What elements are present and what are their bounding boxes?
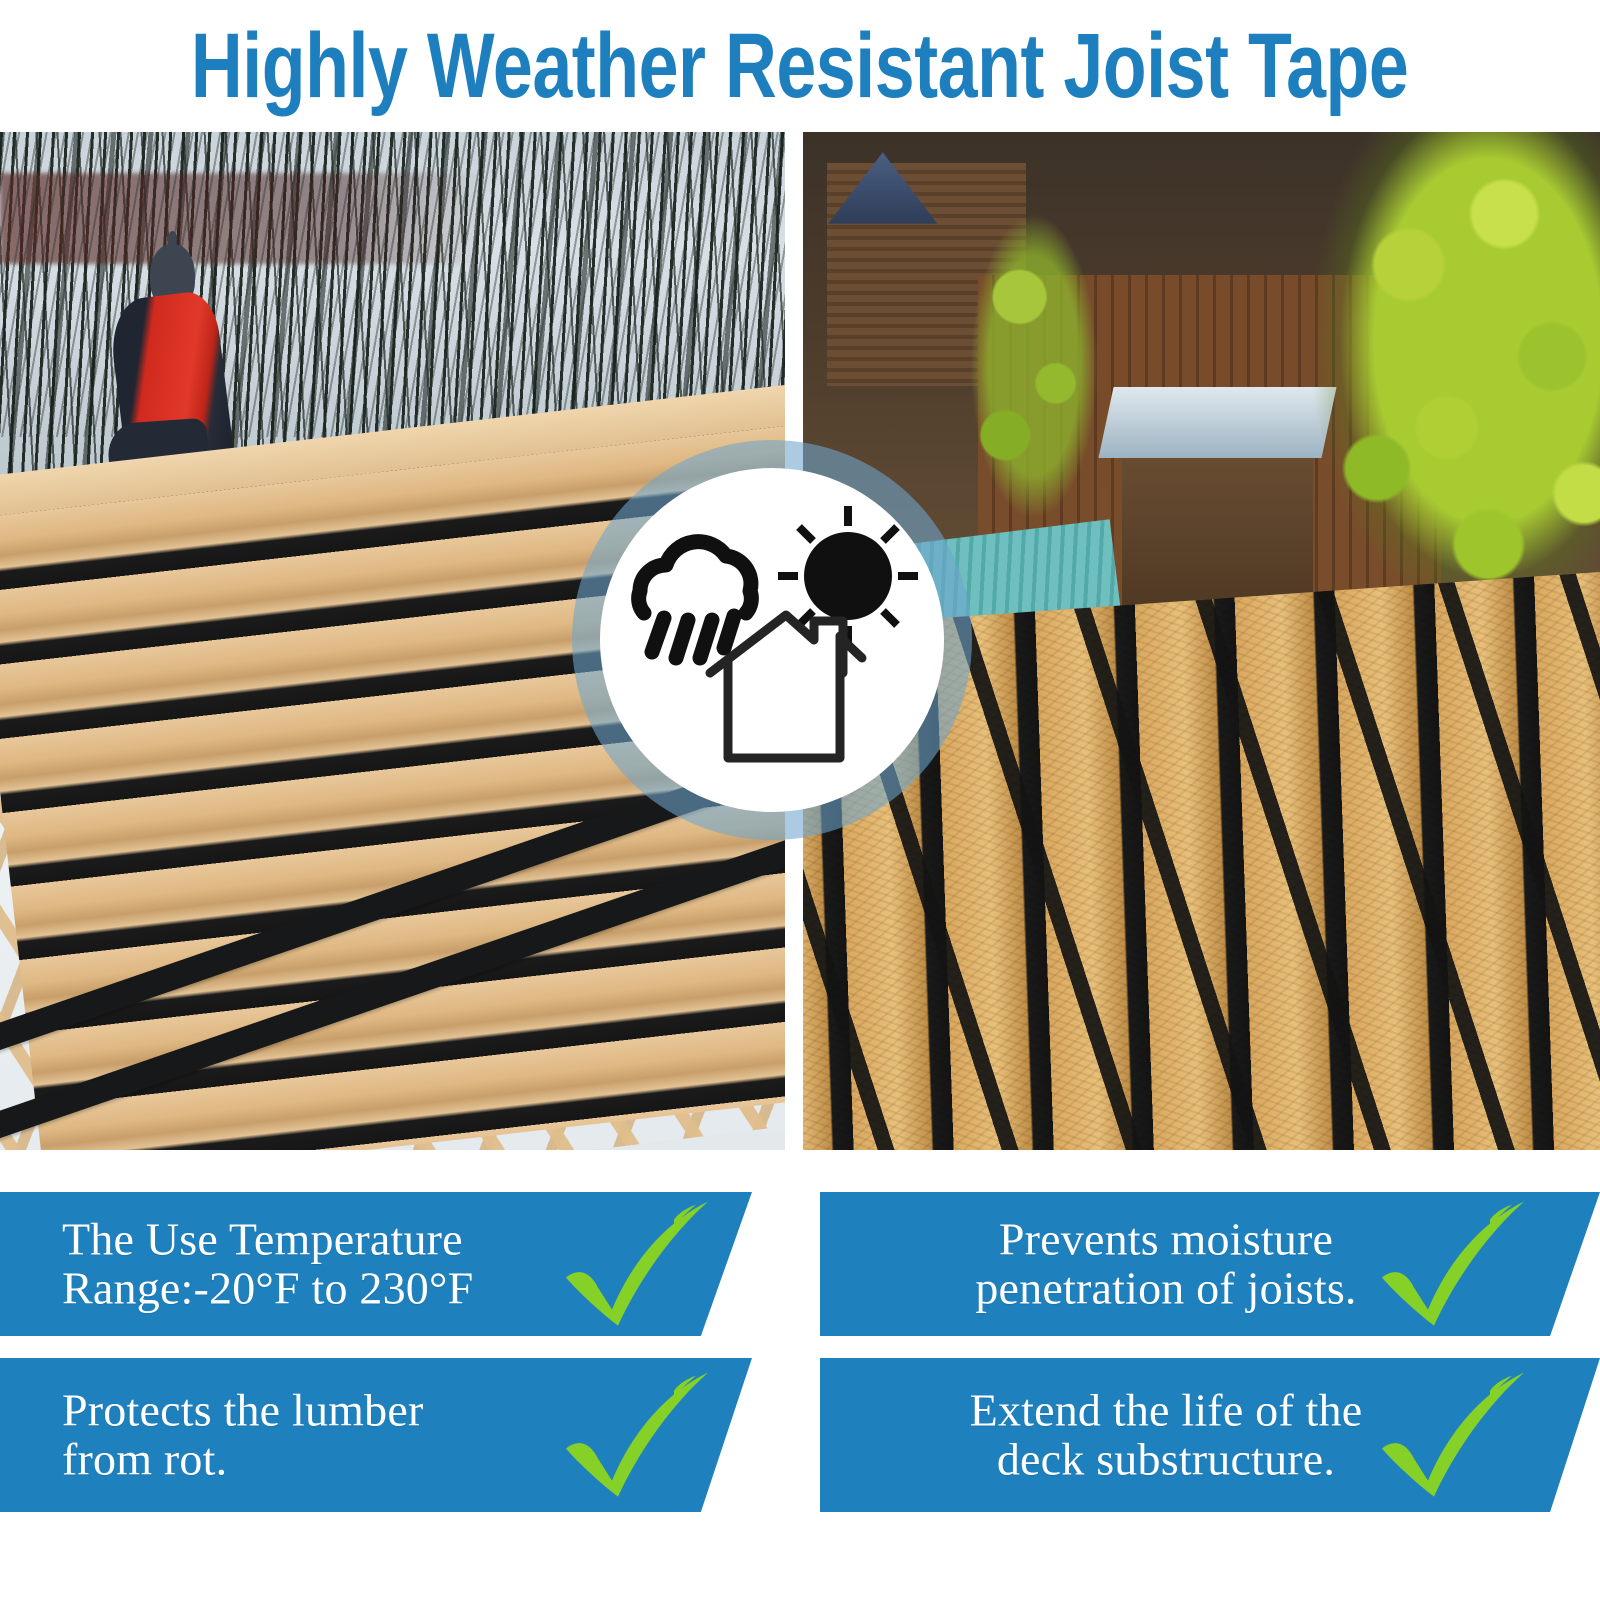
- photo-winter-install: [0, 132, 785, 1150]
- benefit-banner-group: The Use Temperature Range:-20°F to 230°F…: [0, 1186, 1600, 1600]
- photo-comparison-strip: [0, 132, 1600, 1150]
- benefit-banner-temperature-range: The Use Temperature Range:-20°F to 230°F: [0, 1192, 752, 1336]
- check-mark-icon: [562, 1373, 712, 1503]
- page-title: Highly Weather Resistant Joist Tape: [191, 19, 1408, 111]
- leafy-tree: [1313, 132, 1600, 621]
- benefit-banner-rot-protection: Protects the lumber from rot.: [0, 1358, 752, 1512]
- osb-texture: [803, 569, 1600, 1150]
- page-title-bar: Highly Weather Resistant Joist Tape: [0, 0, 1600, 130]
- benefit-text: Prevents moisture penetration of joists.: [886, 1215, 1446, 1313]
- check-mark-icon: [1378, 1373, 1528, 1503]
- photo-summer-install: [803, 132, 1600, 1150]
- benefit-text: Extend the life of the deck substructure…: [886, 1386, 1446, 1484]
- product-feature-graphic: Highly Weather Resistant Joist Tape: [0, 0, 1600, 1600]
- benefit-text: Protects the lumber from rot.: [62, 1386, 562, 1484]
- taped-joist-field-left: [0, 421, 785, 1150]
- benefit-text: The Use Temperature Range:-20°F to 230°F: [62, 1215, 562, 1313]
- check-mark-icon: [1378, 1202, 1528, 1332]
- shrub: [962, 193, 1105, 539]
- benefit-banner-deck-life-extension: Extend the life of the deck substructure…: [820, 1358, 1600, 1512]
- check-mark-icon: [562, 1202, 712, 1332]
- benefit-banner-moisture-prevention: Prevents moisture penetration of joists.: [820, 1192, 1600, 1336]
- shed-metal-roof: [1098, 387, 1336, 458]
